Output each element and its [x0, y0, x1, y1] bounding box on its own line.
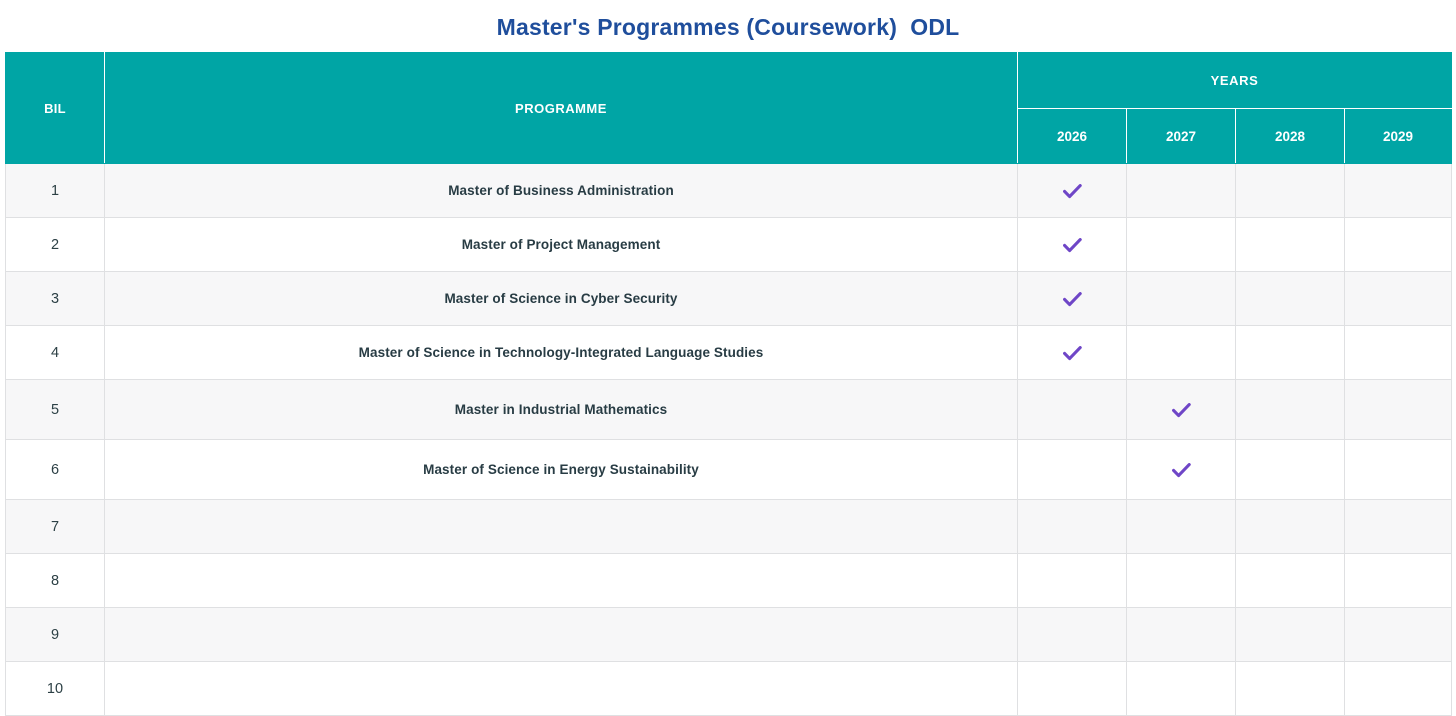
cell-bil: 8	[6, 554, 105, 608]
cell-year-2029[interactable]	[1345, 380, 1452, 440]
cell-programme	[105, 500, 1018, 554]
cell-year-2027[interactable]	[1127, 662, 1236, 716]
table-row: 5Master in Industrial Mathematics	[6, 380, 1452, 440]
table-row: 4Master of Science in Technology-Integra…	[6, 326, 1452, 380]
column-header-year-2026: 2026	[1018, 109, 1127, 164]
cell-programme: Master of Science in Technology-Integrat…	[105, 326, 1018, 380]
cell-programme	[105, 608, 1018, 662]
check-wrap	[1018, 326, 1126, 379]
table-row: 1Master of Business Administration	[6, 164, 1452, 218]
cell-year-2027[interactable]	[1127, 380, 1236, 440]
cell-year-2026[interactable]	[1018, 608, 1127, 662]
cell-year-2028[interactable]	[1236, 218, 1345, 272]
cell-year-2027[interactable]	[1127, 326, 1236, 380]
cell-year-2027[interactable]	[1127, 608, 1236, 662]
cell-year-2026[interactable]	[1018, 272, 1127, 326]
cell-year-2029[interactable]	[1345, 662, 1452, 716]
check-wrap	[1018, 164, 1126, 217]
cell-year-2026[interactable]	[1018, 440, 1127, 500]
cell-year-2028[interactable]	[1236, 554, 1345, 608]
cell-year-2028[interactable]	[1236, 326, 1345, 380]
cell-year-2028[interactable]	[1236, 164, 1345, 218]
cell-year-2026[interactable]	[1018, 326, 1127, 380]
table-row: 6Master of Science in Energy Sustainabil…	[6, 440, 1452, 500]
check-icon	[1063, 346, 1082, 361]
table-body: 1Master of Business Administration2Maste…	[6, 164, 1452, 716]
cell-programme: Master of Science in Energy Sustainabili…	[105, 440, 1018, 500]
cell-bil: 2	[6, 218, 105, 272]
table-row: 8	[6, 554, 1452, 608]
cell-programme: Master of Business Administration	[105, 164, 1018, 218]
check-icon	[1172, 463, 1191, 478]
cell-year-2027[interactable]	[1127, 500, 1236, 554]
cell-bil: 4	[6, 326, 105, 380]
cell-year-2027[interactable]	[1127, 272, 1236, 326]
cell-programme: Master in Industrial Mathematics	[105, 380, 1018, 440]
cell-bil: 9	[6, 608, 105, 662]
cell-year-2029[interactable]	[1345, 218, 1452, 272]
cell-bil: 3	[6, 272, 105, 326]
cell-year-2026[interactable]	[1018, 554, 1127, 608]
cell-bil: 6	[6, 440, 105, 500]
cell-year-2029[interactable]	[1345, 326, 1452, 380]
cell-year-2026[interactable]	[1018, 218, 1127, 272]
cell-year-2027[interactable]	[1127, 218, 1236, 272]
table-row: 2Master of Project Management	[6, 218, 1452, 272]
cell-year-2027[interactable]	[1127, 164, 1236, 218]
cell-bil: 5	[6, 380, 105, 440]
column-header-bil: BIL	[6, 53, 105, 164]
cell-bil: 10	[6, 662, 105, 716]
cell-year-2029[interactable]	[1345, 440, 1452, 500]
cell-year-2026[interactable]	[1018, 164, 1127, 218]
cell-programme	[105, 662, 1018, 716]
cell-year-2028[interactable]	[1236, 608, 1345, 662]
cell-year-2028[interactable]	[1236, 272, 1345, 326]
programmes-table: BIL PROGRAMME YEARS 2026 2027 2028 2029 …	[5, 52, 1452, 716]
cell-bil: 1	[6, 164, 105, 218]
cell-year-2029[interactable]	[1345, 500, 1452, 554]
cell-programme	[105, 554, 1018, 608]
header-row-top: BIL PROGRAMME YEARS	[6, 53, 1452, 109]
cell-year-2027[interactable]	[1127, 554, 1236, 608]
check-wrap	[1018, 218, 1126, 271]
table-header: BIL PROGRAMME YEARS 2026 2027 2028 2029	[6, 53, 1452, 164]
check-wrap	[1127, 440, 1235, 499]
cell-year-2027[interactable]	[1127, 440, 1236, 500]
cell-year-2029[interactable]	[1345, 272, 1452, 326]
cell-programme: Master of Science in Cyber Security	[105, 272, 1018, 326]
cell-year-2029[interactable]	[1345, 554, 1452, 608]
check-icon	[1063, 292, 1082, 307]
programmes-table-container: BIL PROGRAMME YEARS 2026 2027 2028 2029 …	[0, 52, 1456, 716]
column-header-programme: PROGRAMME	[105, 53, 1018, 164]
column-header-year-2029: 2029	[1345, 109, 1452, 164]
cell-year-2028[interactable]	[1236, 500, 1345, 554]
cell-year-2029[interactable]	[1345, 164, 1452, 218]
cell-year-2026[interactable]	[1018, 500, 1127, 554]
check-wrap	[1018, 272, 1126, 325]
table-row: 9	[6, 608, 1452, 662]
table-row: 7	[6, 500, 1452, 554]
check-wrap	[1127, 380, 1235, 439]
cell-bil: 7	[6, 500, 105, 554]
table-row: 3Master of Science in Cyber Security	[6, 272, 1452, 326]
cell-programme: Master of Project Management	[105, 218, 1018, 272]
cell-year-2028[interactable]	[1236, 440, 1345, 500]
cell-year-2026[interactable]	[1018, 380, 1127, 440]
cell-year-2028[interactable]	[1236, 380, 1345, 440]
check-icon	[1063, 238, 1082, 253]
column-header-year-2027: 2027	[1127, 109, 1236, 164]
column-header-year-2028: 2028	[1236, 109, 1345, 164]
cell-year-2029[interactable]	[1345, 608, 1452, 662]
cell-year-2026[interactable]	[1018, 662, 1127, 716]
cell-year-2028[interactable]	[1236, 662, 1345, 716]
check-icon	[1063, 184, 1082, 199]
check-icon	[1172, 403, 1191, 418]
page-title: Master's Programmes (Coursework) ODL	[0, 0, 1456, 52]
column-header-years-group: YEARS	[1018, 53, 1452, 109]
table-row: 10	[6, 662, 1452, 716]
